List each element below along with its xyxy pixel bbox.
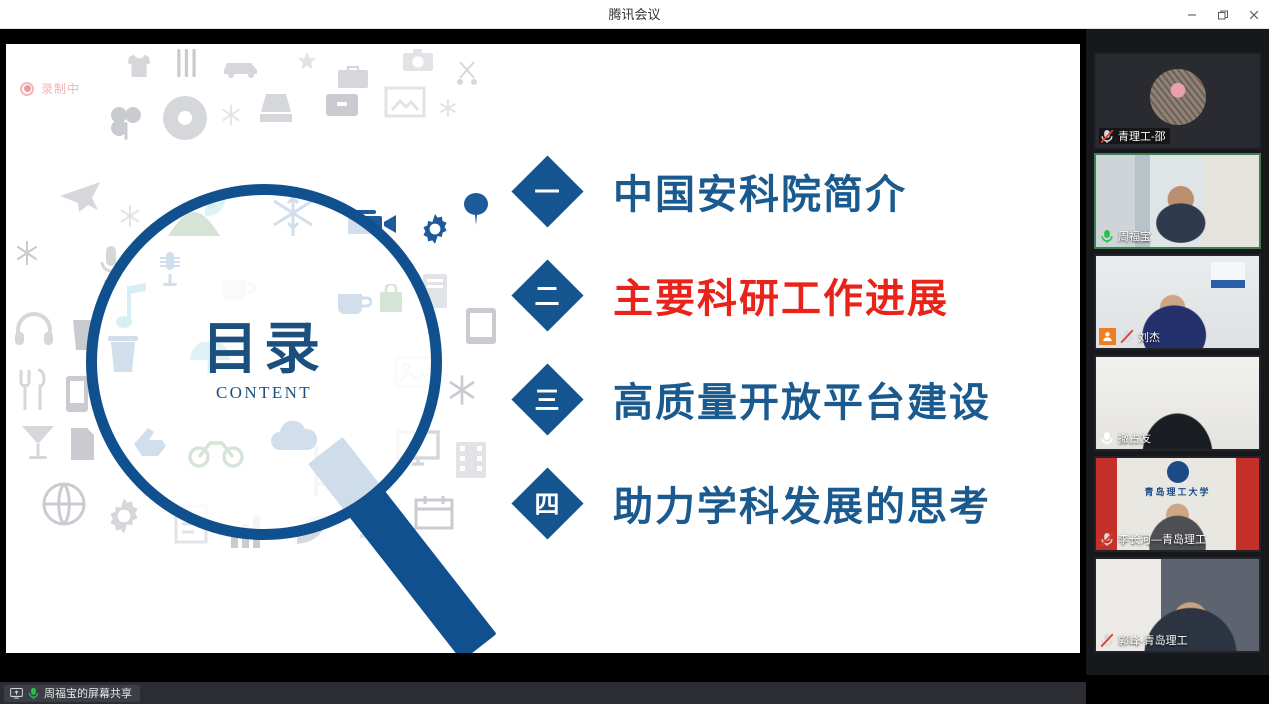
agenda-item[interactable]: 四 助力学科发展的思考 [511, 451, 1071, 555]
participant-namebar: 刘杰 [1099, 328, 1160, 345]
cup-icon [70, 316, 98, 352]
snowflake-icon [220, 104, 242, 126]
agenda-label: 助力学科发展的思考 [613, 474, 991, 532]
participant-tile[interactable]: 撒占友 [1094, 355, 1261, 451]
leaf-icon [202, 192, 228, 218]
participant-tile[interactable]: 刘杰 [1094, 254, 1261, 350]
participant-namebar: 李长河—青岛理工 [1099, 531, 1206, 547]
microphone-on-icon [28, 687, 39, 700]
agenda-label: 高质量开放平台建设 [613, 370, 991, 428]
agenda-item[interactable]: 二 主要科研工作进展 [511, 243, 1071, 347]
recording-indicator: 录制中 [20, 80, 80, 97]
camera-icon [402, 48, 434, 72]
coffee-cup-icon [220, 274, 256, 304]
microphone-muted-icon [1119, 329, 1135, 345]
balloon-icon [462, 192, 490, 226]
asterisk-icon [438, 98, 458, 118]
microphone-muted-icon [1099, 128, 1115, 144]
screen-share-statusbar: 周福宝的屏幕共享 [0, 682, 1086, 704]
microphone-muted-icon [1099, 531, 1115, 547]
snowflake-icon [14, 240, 40, 266]
briefcase-icon [336, 64, 370, 90]
university-crest [1167, 461, 1189, 483]
tablet-icon [464, 306, 498, 346]
car-icon [221, 56, 263, 78]
tshirt-icon [124, 52, 154, 82]
participant-tile[interactable]: 青理工-邵 [1094, 53, 1261, 149]
close-button[interactable] [1238, 0, 1269, 29]
microphone-muted-icon [1099, 632, 1115, 648]
agenda-number-diamond: 四 [511, 467, 583, 539]
coffee-cup-icon [336, 288, 372, 318]
agenda-number-diamond: 二 [511, 259, 583, 331]
agenda-number: 一 [511, 155, 583, 227]
bar-chart-icon [228, 514, 266, 550]
screen-share-chip[interactable]: 周福宝的屏幕共享 [4, 685, 140, 702]
participant-namebar: 撒占友 [1099, 430, 1151, 446]
agenda-label: 主要科研工作进展 [613, 266, 949, 324]
agenda-item[interactable]: 一 中国安科院简介 [511, 139, 1071, 243]
file-icon [68, 426, 96, 462]
hand-pointer-icon [132, 424, 168, 458]
window-titlebar: 腾讯会议 [0, 0, 1269, 29]
star-icon [296, 50, 318, 72]
participant-tile[interactable]: 郭峰-青岛理工 [1094, 557, 1261, 653]
agenda-number-diamond: 一 [511, 155, 583, 227]
clover-icon [106, 102, 146, 142]
gear-icon [104, 496, 144, 536]
music-note-icon [116, 282, 150, 332]
video-camera-icon [346, 204, 398, 238]
participant-tile[interactable]: 周福宝 [1094, 153, 1261, 249]
agenda-number: 二 [511, 259, 583, 331]
shopping-bag-icon [378, 284, 404, 314]
microphone-icon [158, 250, 182, 288]
minimize-button[interactable] [1176, 0, 1207, 29]
book-icon [420, 272, 450, 310]
university-backdrop-text: 青岛理工大学 [1144, 485, 1210, 498]
agenda-number: 四 [511, 467, 583, 539]
avatar [1150, 69, 1206, 125]
screen-share-label: 周福宝的屏幕共享 [44, 685, 132, 701]
ladder-icon [306, 444, 350, 498]
participant-tile[interactable]: 青岛理工大学 李长河—青岛理工 [1094, 456, 1261, 552]
microphone-on-icon [1099, 228, 1115, 244]
participant-name: 李长河—青岛理工 [1118, 531, 1206, 547]
presentation-slide: 目录 CONTENT 一 中国安科院简介 二 主要科研工作进展 [6, 44, 1080, 653]
microphone-icon [98, 244, 124, 284]
checklist-icon [174, 504, 208, 544]
cutlery-icon [16, 368, 48, 412]
tools-icon [174, 46, 200, 80]
record-dot-icon [20, 82, 34, 96]
smartphone-icon [64, 374, 90, 414]
window-title: 腾讯会议 [0, 0, 1269, 29]
restore-button[interactable] [1207, 0, 1238, 29]
agenda-number: 三 [511, 363, 583, 435]
globe-icon [42, 482, 86, 526]
agenda-label: 中国安科院简介 [613, 162, 907, 220]
gear-icon [418, 212, 452, 246]
screen-share-icon [10, 688, 23, 699]
suitcase-icon [324, 90, 360, 118]
leaf-icon [294, 512, 328, 546]
shared-screen-area[interactable]: 目录 CONTENT 一 中国安科院简介 二 主要科研工作进展 [0, 29, 1086, 653]
image-icon [394, 356, 434, 388]
airplane-icon [58, 174, 102, 214]
monitor-icon [396, 430, 440, 468]
film-strip-icon [454, 440, 488, 480]
file-tray-icon [256, 92, 296, 124]
snowflake-icon [118, 204, 142, 228]
microphone-on-icon [1099, 430, 1115, 446]
participant-name: 刘杰 [1138, 329, 1160, 345]
scissors-icon [456, 60, 478, 86]
host-person-icon [1099, 328, 1116, 345]
martini-glass-icon [20, 422, 56, 462]
bicycle-icon [188, 434, 244, 468]
agenda-list: 一 中国安科院简介 二 主要科研工作进展 三 高质量开放平台建设 [511, 139, 1071, 555]
participant-namebar: 郭峰-青岛理工 [1099, 632, 1188, 648]
participant-name: 周福宝 [1118, 228, 1151, 244]
participant-name: 撒占友 [1118, 430, 1151, 446]
vinyl-record-icon [161, 94, 209, 142]
recording-label: 录制中 [41, 80, 80, 97]
participant-namebar: 周福宝 [1099, 228, 1151, 244]
snowflake-icon [446, 374, 478, 406]
snowflake-icon [268, 188, 318, 238]
bulb-icon [352, 504, 378, 542]
agenda-number-diamond: 三 [511, 363, 583, 435]
calendar-icon [414, 494, 454, 530]
agenda-item[interactable]: 三 高质量开放平台建设 [511, 347, 1071, 451]
decorative-icon-cloud [6, 44, 526, 604]
participant-name: 青理工-邵 [1118, 128, 1166, 144]
umbrella-icon [188, 342, 232, 378]
picture-frame-icon [384, 86, 426, 118]
participant-rail[interactable]: 青理工-邵 周福宝 [1086, 29, 1269, 675]
trash-bin-icon [106, 334, 140, 374]
headphones-icon [14, 312, 54, 346]
participant-namebar: 青理工-邵 [1099, 128, 1170, 144]
participant-name: 郭峰-青岛理工 [1118, 632, 1188, 648]
